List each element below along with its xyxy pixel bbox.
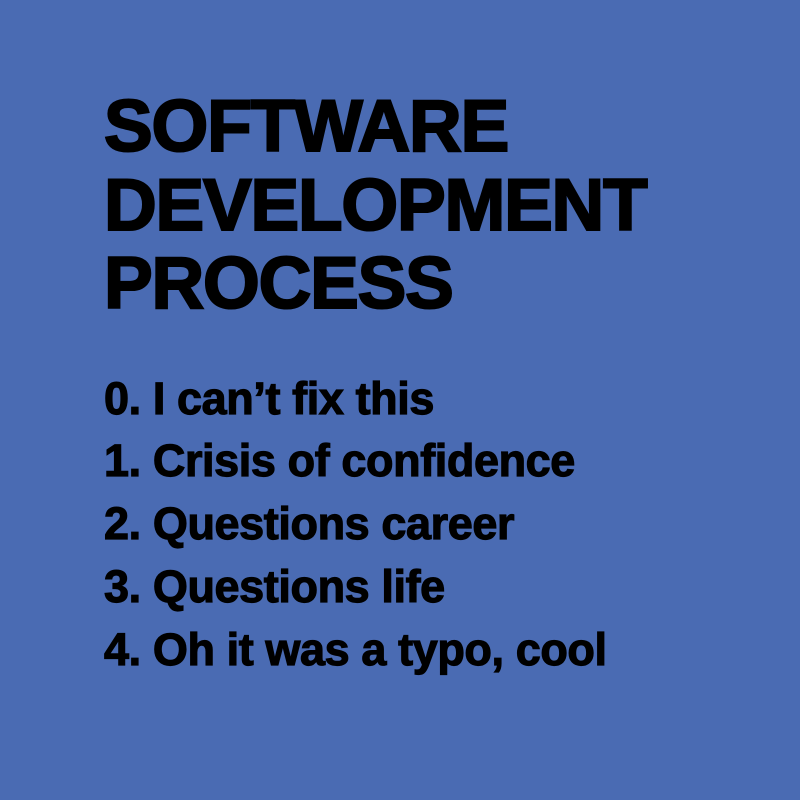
process-step-list: 0. I can’t fix this 1. Crisis of confide… [104, 368, 744, 682]
list-item: 1. Crisis of confidence [104, 430, 744, 493]
step-label: Questions life [153, 561, 445, 612]
list-item: 2. Questions career [104, 493, 744, 556]
step-index: 2. [104, 498, 141, 549]
page-title-line-1: SOFTWARE [104, 88, 744, 167]
step-label: Oh it was a typo, cool [153, 624, 607, 675]
step-index: 3. [104, 561, 141, 612]
poster-canvas: SOFTWARE DEVELOPMENT PROCESS 0. I can’t … [0, 0, 800, 800]
step-label: Crisis of confidence [153, 435, 575, 486]
poster-content: SOFTWARE DEVELOPMENT PROCESS 0. I can’t … [104, 88, 744, 681]
step-index: 0. [104, 373, 141, 424]
page-title-line-2: DEVELOPMENT [104, 167, 744, 246]
page-title-line-3: PROCESS [104, 245, 744, 324]
page-title: SOFTWARE DEVELOPMENT PROCESS [104, 88, 744, 324]
step-label: Questions career [153, 498, 514, 549]
list-item: 3. Questions life [104, 556, 744, 619]
step-label: I can’t fix this [153, 373, 434, 424]
list-item: 0. I can’t fix this [104, 368, 744, 431]
step-index: 1. [104, 435, 141, 486]
list-item: 4. Oh it was a typo, cool [104, 619, 744, 682]
step-index: 4. [104, 624, 141, 675]
